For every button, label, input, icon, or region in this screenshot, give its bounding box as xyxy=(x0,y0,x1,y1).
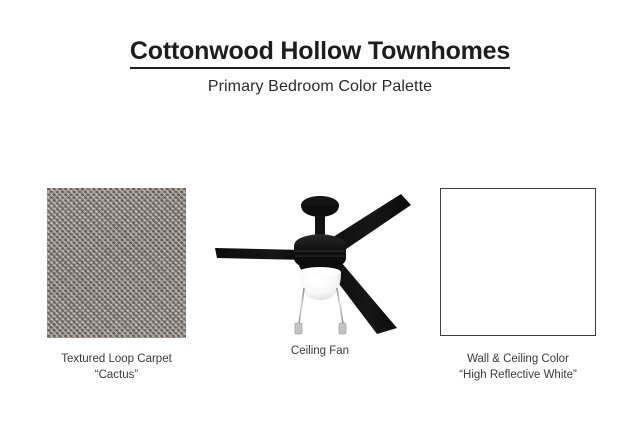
paint-caption: Wall & Ceiling Color “High Reflective Wh… xyxy=(403,351,633,383)
page-subtitle: Primary Bedroom Color Palette xyxy=(0,78,640,96)
paint-caption-line1: Wall & Ceiling Color xyxy=(403,351,633,367)
paint-chip-swatch[interactable] xyxy=(440,188,596,336)
carpet-caption: Textured Loop Carpet “Cactus” xyxy=(2,351,232,383)
fan-light-dome xyxy=(299,267,341,300)
carpet-caption-line2: “Cactus” xyxy=(2,367,232,383)
fan-canopy xyxy=(301,196,339,217)
paint-caption-line2: “High Reflective White” xyxy=(403,367,633,383)
palette-board: Cottonwood Hollow Townhomes Primary Bedr… xyxy=(0,0,640,445)
ceiling-fan-illustration xyxy=(215,188,425,340)
carpet-swatch[interactable] xyxy=(47,188,186,338)
page-title: Cottonwood Hollow Townhomes xyxy=(130,38,510,69)
board-header: Cottonwood Hollow Townhomes Primary Bedr… xyxy=(0,38,640,96)
ceiling-fan-caption: Ceiling Fan xyxy=(205,343,435,359)
fan-blade-left xyxy=(215,248,307,260)
swatch-row: Textured Loop Carpet “Cactus” xyxy=(0,188,640,388)
fan-pull-chain-left[interactable] xyxy=(295,288,304,334)
palette-item-paint[interactable]: Wall & Ceiling Color “High Reflective Wh… xyxy=(440,188,596,336)
palette-item-ceiling-fan[interactable]: Ceiling Fan xyxy=(215,188,425,340)
fan-pull-chain-right[interactable] xyxy=(337,288,346,334)
ceiling-fan-image[interactable] xyxy=(215,188,425,340)
carpet-caption-line1: Textured Loop Carpet xyxy=(2,351,232,367)
ceiling-fan-caption-line1: Ceiling Fan xyxy=(205,343,435,359)
palette-item-carpet[interactable]: Textured Loop Carpet “Cactus” xyxy=(47,188,186,338)
